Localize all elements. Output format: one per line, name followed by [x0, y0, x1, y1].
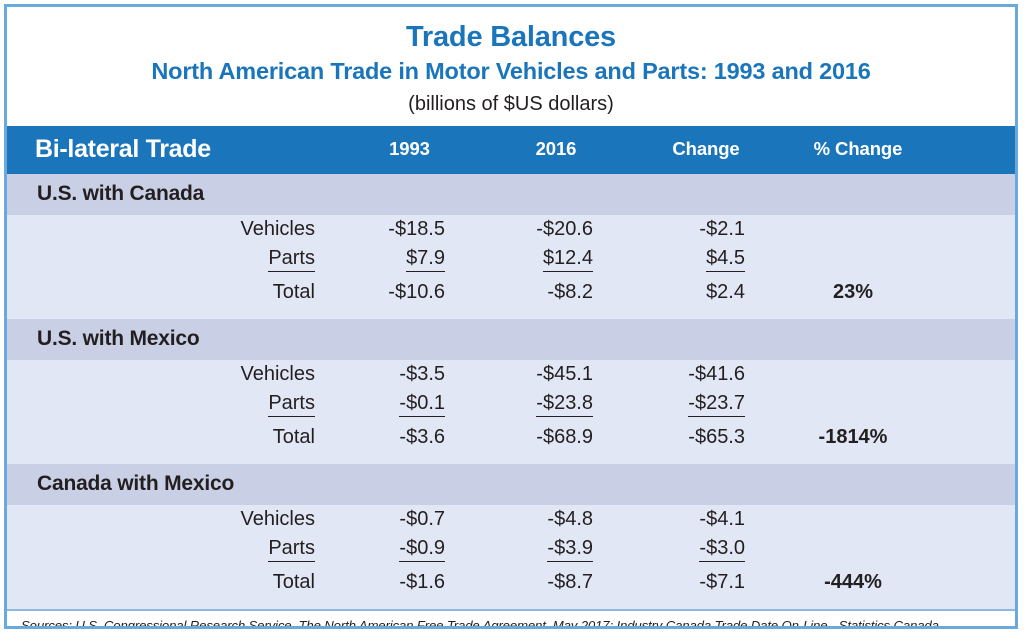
cell-change-text: -$65.3 [688, 426, 745, 448]
cell-2016-text: -$45.1 [536, 363, 593, 385]
cell-pad [934, 565, 1015, 601]
section-spacer [7, 456, 1015, 464]
cell-1993-text: -$3.6 [399, 426, 445, 448]
cell-pad [934, 505, 1015, 534]
table-frame: Trade Balances North American Trade in M… [4, 4, 1018, 629]
cell-change: -$65.3 [630, 420, 782, 456]
cell-2016: -$8.7 [482, 565, 630, 601]
row-label: Parts [7, 244, 337, 275]
cell-2016-text: $12.4 [543, 247, 593, 272]
cell-pad [934, 420, 1015, 456]
section-header-row: Canada with Mexico [7, 464, 1015, 505]
table-row: Total-$1.6-$8.7-$7.1-444% [7, 565, 1015, 601]
cell-2016-text: -$23.8 [536, 392, 593, 417]
cell-change-text: -$3.0 [699, 537, 745, 562]
column-header-pct-change[interactable]: % Change [782, 126, 934, 174]
section-spacer-cell [7, 601, 1015, 609]
page-title: Trade Balances [7, 21, 1015, 54]
cell-change: -$41.6 [630, 360, 782, 389]
cell-1993: -$3.5 [337, 360, 482, 389]
row-label: Vehicles [7, 215, 337, 244]
cell-pad [934, 389, 1015, 420]
section-header-row: U.S. with Mexico [7, 319, 1015, 360]
cell-change-text: -$4.1 [699, 508, 745, 530]
row-label-text: Total [273, 281, 315, 303]
table-row: Total-$10.6-$8.2$2.423% [7, 275, 1015, 311]
cell-pct-change [782, 244, 934, 275]
cell-2016: $12.4 [482, 244, 630, 275]
row-label-text: Vehicles [241, 218, 316, 240]
cell-1993: -$1.6 [337, 565, 482, 601]
cell-2016: -$23.8 [482, 389, 630, 420]
row-label-text: Total [273, 571, 315, 593]
section-title: Canada with Mexico [7, 464, 1015, 505]
cell-pad [934, 360, 1015, 389]
cell-pad [934, 215, 1015, 244]
cell-2016: -$8.2 [482, 275, 630, 311]
table-header: Bi-lateral Trade 1993 2016 Change % Chan… [7, 126, 1015, 174]
sources-note: Sources: U.S. Congressional Research Ser… [7, 609, 1015, 629]
cell-change: -$23.7 [630, 389, 782, 420]
section-spacer-cell [7, 311, 1015, 319]
cell-pct-change-text: 23% [833, 281, 873, 303]
cell-2016: -$68.9 [482, 420, 630, 456]
cell-pad [934, 244, 1015, 275]
cell-1993: -$0.7 [337, 505, 482, 534]
header-row: Bi-lateral Trade 1993 2016 Change % Chan… [7, 126, 1015, 174]
column-header-bilateral-trade[interactable]: Bi-lateral Trade [7, 126, 337, 174]
section-spacer [7, 311, 1015, 319]
cell-pct-change [782, 360, 934, 389]
cell-2016: -$3.9 [482, 534, 630, 565]
row-label: Vehicles [7, 360, 337, 389]
cell-change: -$4.1 [630, 505, 782, 534]
cell-change-text: -$2.1 [699, 218, 745, 240]
cell-pct-change: -444% [782, 565, 934, 601]
table-row: Vehicles-$0.7-$4.8-$4.1 [7, 505, 1015, 534]
row-label-text: Vehicles [241, 363, 316, 385]
section-header-row: U.S. with Canada [7, 174, 1015, 215]
row-label: Parts [7, 534, 337, 565]
cell-pct-change [782, 389, 934, 420]
cell-change: -$3.0 [630, 534, 782, 565]
row-label-text: Vehicles [241, 508, 316, 530]
cell-1993: -$0.1 [337, 389, 482, 420]
table-row: Parts-$0.1-$23.8-$23.7 [7, 389, 1015, 420]
row-label-text: Parts [268, 247, 315, 272]
table-body: U.S. with CanadaVehicles-$18.5-$20.6-$2.… [7, 174, 1015, 609]
cell-pct-change-text: -444% [824, 571, 882, 593]
cell-change-text: -$41.6 [688, 363, 745, 385]
cell-pct-change: 23% [782, 275, 934, 311]
table-row: Parts-$0.9-$3.9-$3.0 [7, 534, 1015, 565]
table-row: Parts$7.9$12.4$4.5 [7, 244, 1015, 275]
cell-change: $4.5 [630, 244, 782, 275]
table-row: Vehicles-$3.5-$45.1-$41.6 [7, 360, 1015, 389]
title-block: Trade Balances North American Trade in M… [7, 7, 1015, 126]
units-note: (billions of $US dollars) [7, 92, 1015, 116]
trade-balances-table: Bi-lateral Trade 1993 2016 Change % Chan… [7, 126, 1015, 609]
cell-change-text: $2.4 [706, 281, 745, 303]
section-title: U.S. with Canada [7, 174, 1015, 215]
row-label: Total [7, 420, 337, 456]
cell-change-text: -$7.1 [699, 571, 745, 593]
cell-pct-change: -1814% [782, 420, 934, 456]
cell-pct-change-text: -1814% [819, 426, 888, 448]
table-row: Total-$3.6-$68.9-$65.3-1814% [7, 420, 1015, 456]
cell-2016-text: -$8.2 [547, 281, 593, 303]
cell-1993: -$10.6 [337, 275, 482, 311]
cell-pct-change [782, 505, 934, 534]
cell-1993: -$3.6 [337, 420, 482, 456]
cell-2016-text: -$3.9 [547, 537, 593, 562]
column-header-pad [934, 126, 1015, 174]
cell-change-text: -$23.7 [688, 392, 745, 417]
cell-2016-text: -$4.8 [547, 508, 593, 530]
cell-1993-text: -$18.5 [388, 218, 445, 240]
row-label: Parts [7, 389, 337, 420]
cell-1993: $7.9 [337, 244, 482, 275]
cell-change: -$2.1 [630, 215, 782, 244]
cell-2016-text: -$68.9 [536, 426, 593, 448]
cell-change: $2.4 [630, 275, 782, 311]
cell-1993-text: $7.9 [406, 247, 445, 272]
cell-pct-change [782, 534, 934, 565]
cell-2016-text: -$20.6 [536, 218, 593, 240]
cell-pad [934, 534, 1015, 565]
cell-1993: -$18.5 [337, 215, 482, 244]
cell-2016-text: -$8.7 [547, 571, 593, 593]
row-label: Total [7, 275, 337, 311]
section-spacer-cell [7, 456, 1015, 464]
section-spacer [7, 601, 1015, 609]
cell-1993-text: -$10.6 [388, 281, 445, 303]
cell-1993-text: -$0.1 [399, 392, 445, 417]
column-header-1993[interactable]: 1993 [337, 126, 482, 174]
cell-change: -$7.1 [630, 565, 782, 601]
column-header-change[interactable]: Change [630, 126, 782, 174]
cell-1993-text: -$0.7 [399, 508, 445, 530]
row-label: Total [7, 565, 337, 601]
cell-1993-text: -$3.5 [399, 363, 445, 385]
cell-2016: -$4.8 [482, 505, 630, 534]
cell-change-text: $4.5 [706, 247, 745, 272]
section-title: U.S. with Mexico [7, 319, 1015, 360]
row-label-text: Total [273, 426, 315, 448]
cell-2016: -$45.1 [482, 360, 630, 389]
row-label: Vehicles [7, 505, 337, 534]
cell-2016: -$20.6 [482, 215, 630, 244]
row-label-text: Parts [268, 392, 315, 417]
row-label-text: Parts [268, 537, 315, 562]
page-subtitle: North American Trade in Motor Vehicles a… [7, 58, 1015, 86]
cell-1993-text: -$0.9 [399, 537, 445, 562]
cell-1993-text: -$1.6 [399, 571, 445, 593]
cell-1993: -$0.9 [337, 534, 482, 565]
column-header-2016[interactable]: 2016 [482, 126, 630, 174]
cell-pad [934, 275, 1015, 311]
cell-pct-change [782, 215, 934, 244]
table-row: Vehicles-$18.5-$20.6-$2.1 [7, 215, 1015, 244]
